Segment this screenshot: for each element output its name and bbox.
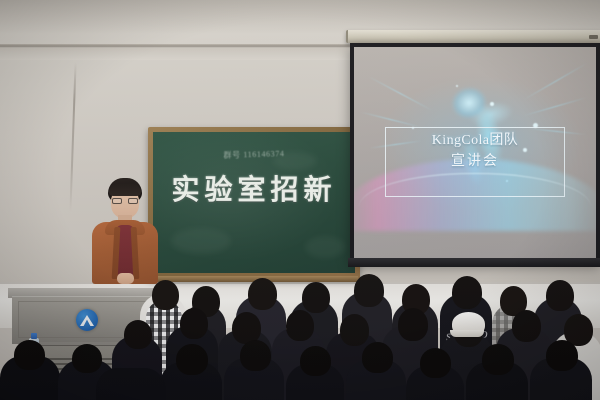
audience-head [452,276,482,309]
roller-end-cap [589,35,598,39]
audience-head [340,314,369,346]
cap-brim [450,330,484,337]
audience-head [72,344,102,373]
screen-bottom-bar [348,258,600,267]
blackboard-subtext: 群号 116146374 [153,146,355,163]
audience-head [286,310,314,341]
ceiling-shadow [0,0,600,34]
audience-head [512,310,541,342]
audience-head [152,280,179,310]
audience-head [546,280,574,311]
projector-screen-roller [346,30,600,43]
audience-head [482,344,514,375]
audience-person [96,368,166,400]
audience-head [398,308,428,341]
audience-head [176,344,208,375]
blackboard: 群号 116146374 实验室招新 [148,127,360,279]
presenter-fringe [109,184,141,196]
audience-head [362,342,393,373]
slide-title-block: KingCola团队 宣讲会 [385,131,564,171]
audience-head [240,340,271,371]
audience-head [420,348,451,378]
audience-head [302,282,330,313]
projector-screen-surface: KingCola团队 宣讲会 [354,47,596,258]
photo-scene: 群号 116146374 实验室招新 [0,0,600,400]
glasses-icon [112,198,138,204]
slide-title-line2: 宣讲会 [385,152,564,172]
slide-title-line1: KingCola团队 [385,131,564,151]
wall-trim-band [0,48,352,60]
audience: do SAYHUBO WIBO [0,282,600,400]
blackboard-headline: 实验室招新 [153,168,355,208]
audience-head [180,308,208,339]
audience-head [124,320,152,349]
audience-head [546,340,578,371]
blackboard-surface: 群号 116146374 实验室招新 [153,132,355,273]
projector-screen: KingCola团队 宣讲会 [350,43,600,262]
audience-head [300,346,331,376]
audience-head [354,274,384,307]
audience-head [14,340,45,370]
audience-head [248,278,277,310]
